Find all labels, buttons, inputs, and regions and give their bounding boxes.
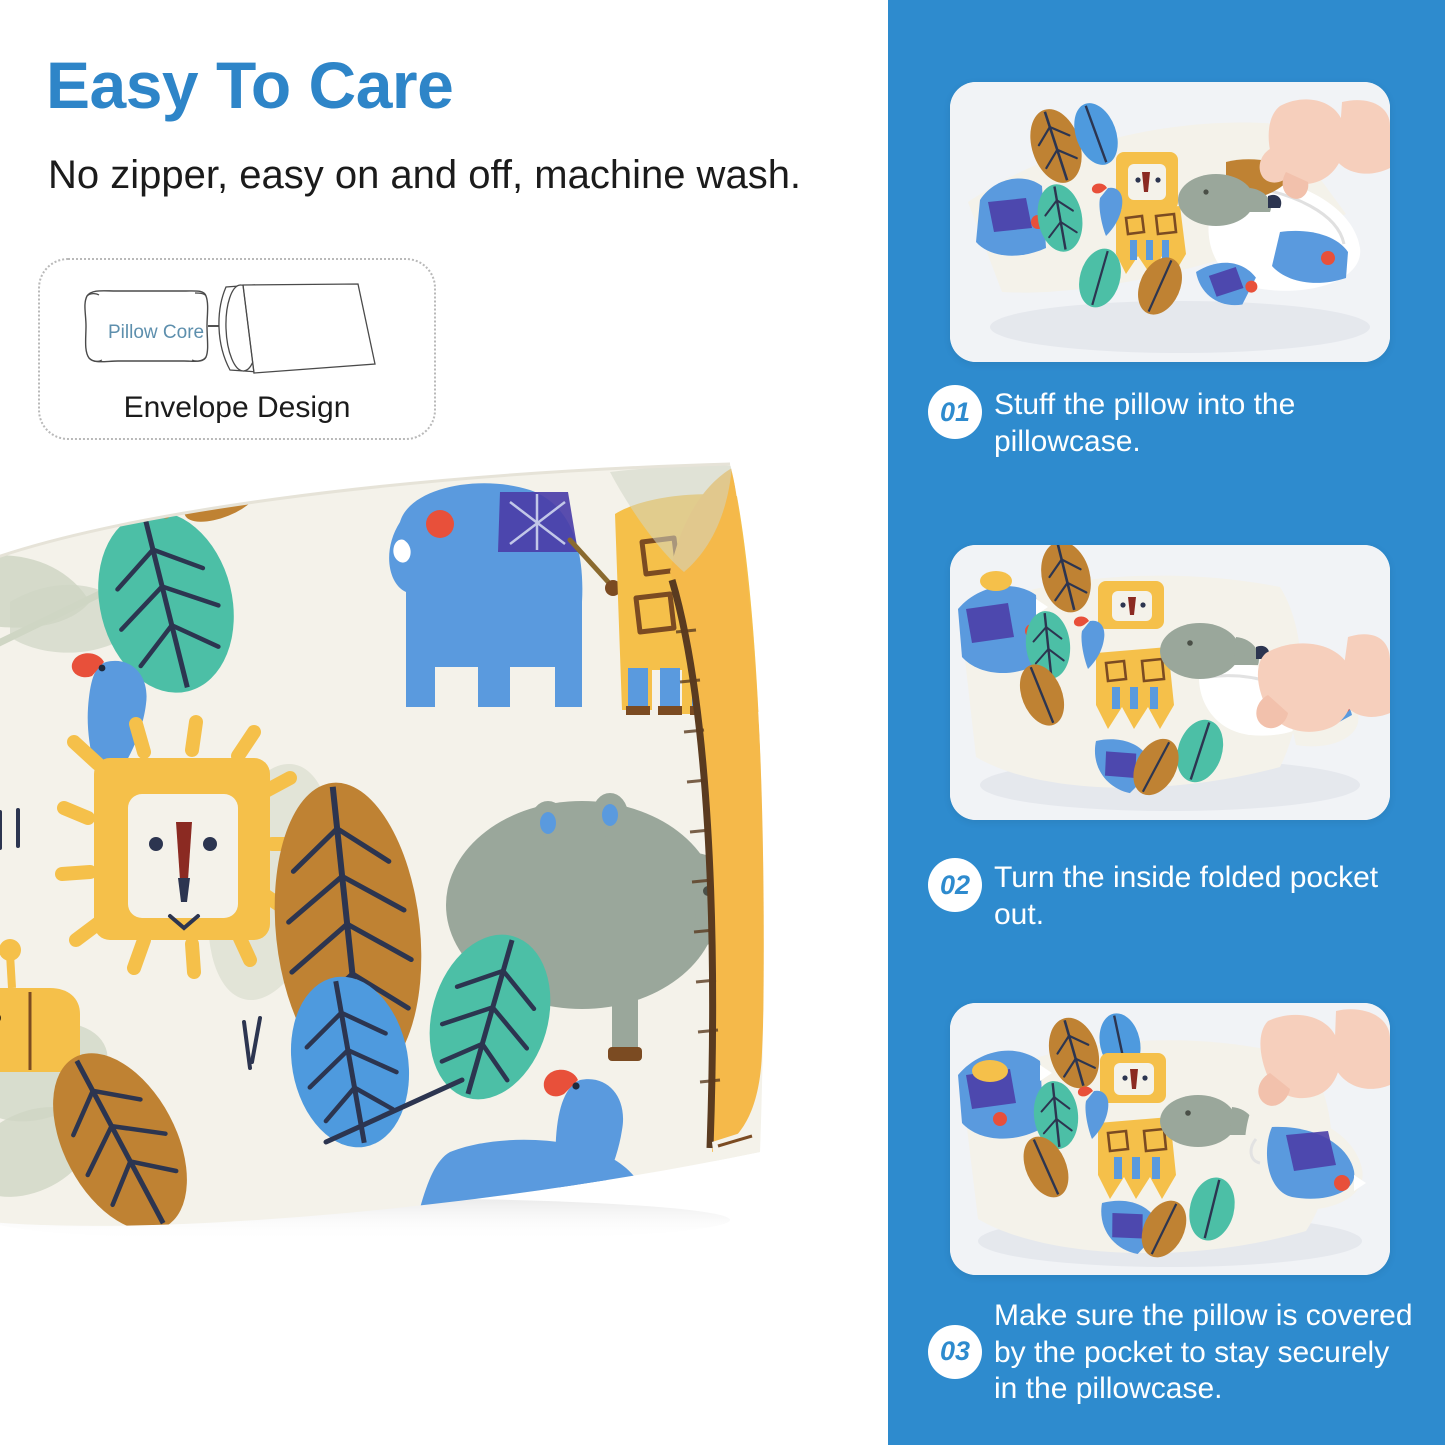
hero-pillow-image xyxy=(0,452,770,1242)
step-02-text: Turn the inside folded pocket out. xyxy=(994,858,1408,933)
envelope-design-diagram: Pillow Core Envelope Design xyxy=(38,258,436,440)
step-03-text: Make sure the pillow is covered by the p… xyxy=(994,1296,1418,1408)
page-title: Easy To Care xyxy=(46,52,453,118)
left-panel: Easy To Care No zipper, easy on and off,… xyxy=(0,0,888,1445)
step-03-badge: 03 xyxy=(928,1325,982,1379)
covered-pillow-illustration xyxy=(950,1003,1390,1275)
step-01-text: Stuff the pillow into the pillowcase. xyxy=(994,385,1408,460)
infographic-page: Easy To Care No zipper, easy on and off,… xyxy=(0,0,1445,1445)
step-02-caption: 02 Turn the inside folded pocket out. xyxy=(928,858,1408,933)
step-01-badge: 01 xyxy=(928,385,982,439)
step-02-photo xyxy=(950,545,1390,820)
step-03-photo xyxy=(950,1003,1390,1275)
step-02-badge: 02 xyxy=(928,858,982,912)
envelope-diagram-illustration xyxy=(40,260,434,398)
step-01-photo xyxy=(950,82,1390,362)
envelope-design-caption: Envelope Design xyxy=(40,391,434,425)
stuff-pillow-illustration xyxy=(950,82,1390,362)
pillow-illustration xyxy=(0,452,770,1242)
turn-pocket-illustration xyxy=(950,545,1390,820)
pillow-core-label: Pillow Core xyxy=(108,322,204,344)
steps-panel: 01 Stuff the pillow into the pillowcase. xyxy=(888,0,1445,1445)
step-01-caption: 01 Stuff the pillow into the pillowcase. xyxy=(928,385,1408,460)
page-subtitle: No zipper, easy on and off, machine wash… xyxy=(48,152,801,198)
step-03-caption: 03 Make sure the pillow is covered by th… xyxy=(928,1296,1418,1408)
